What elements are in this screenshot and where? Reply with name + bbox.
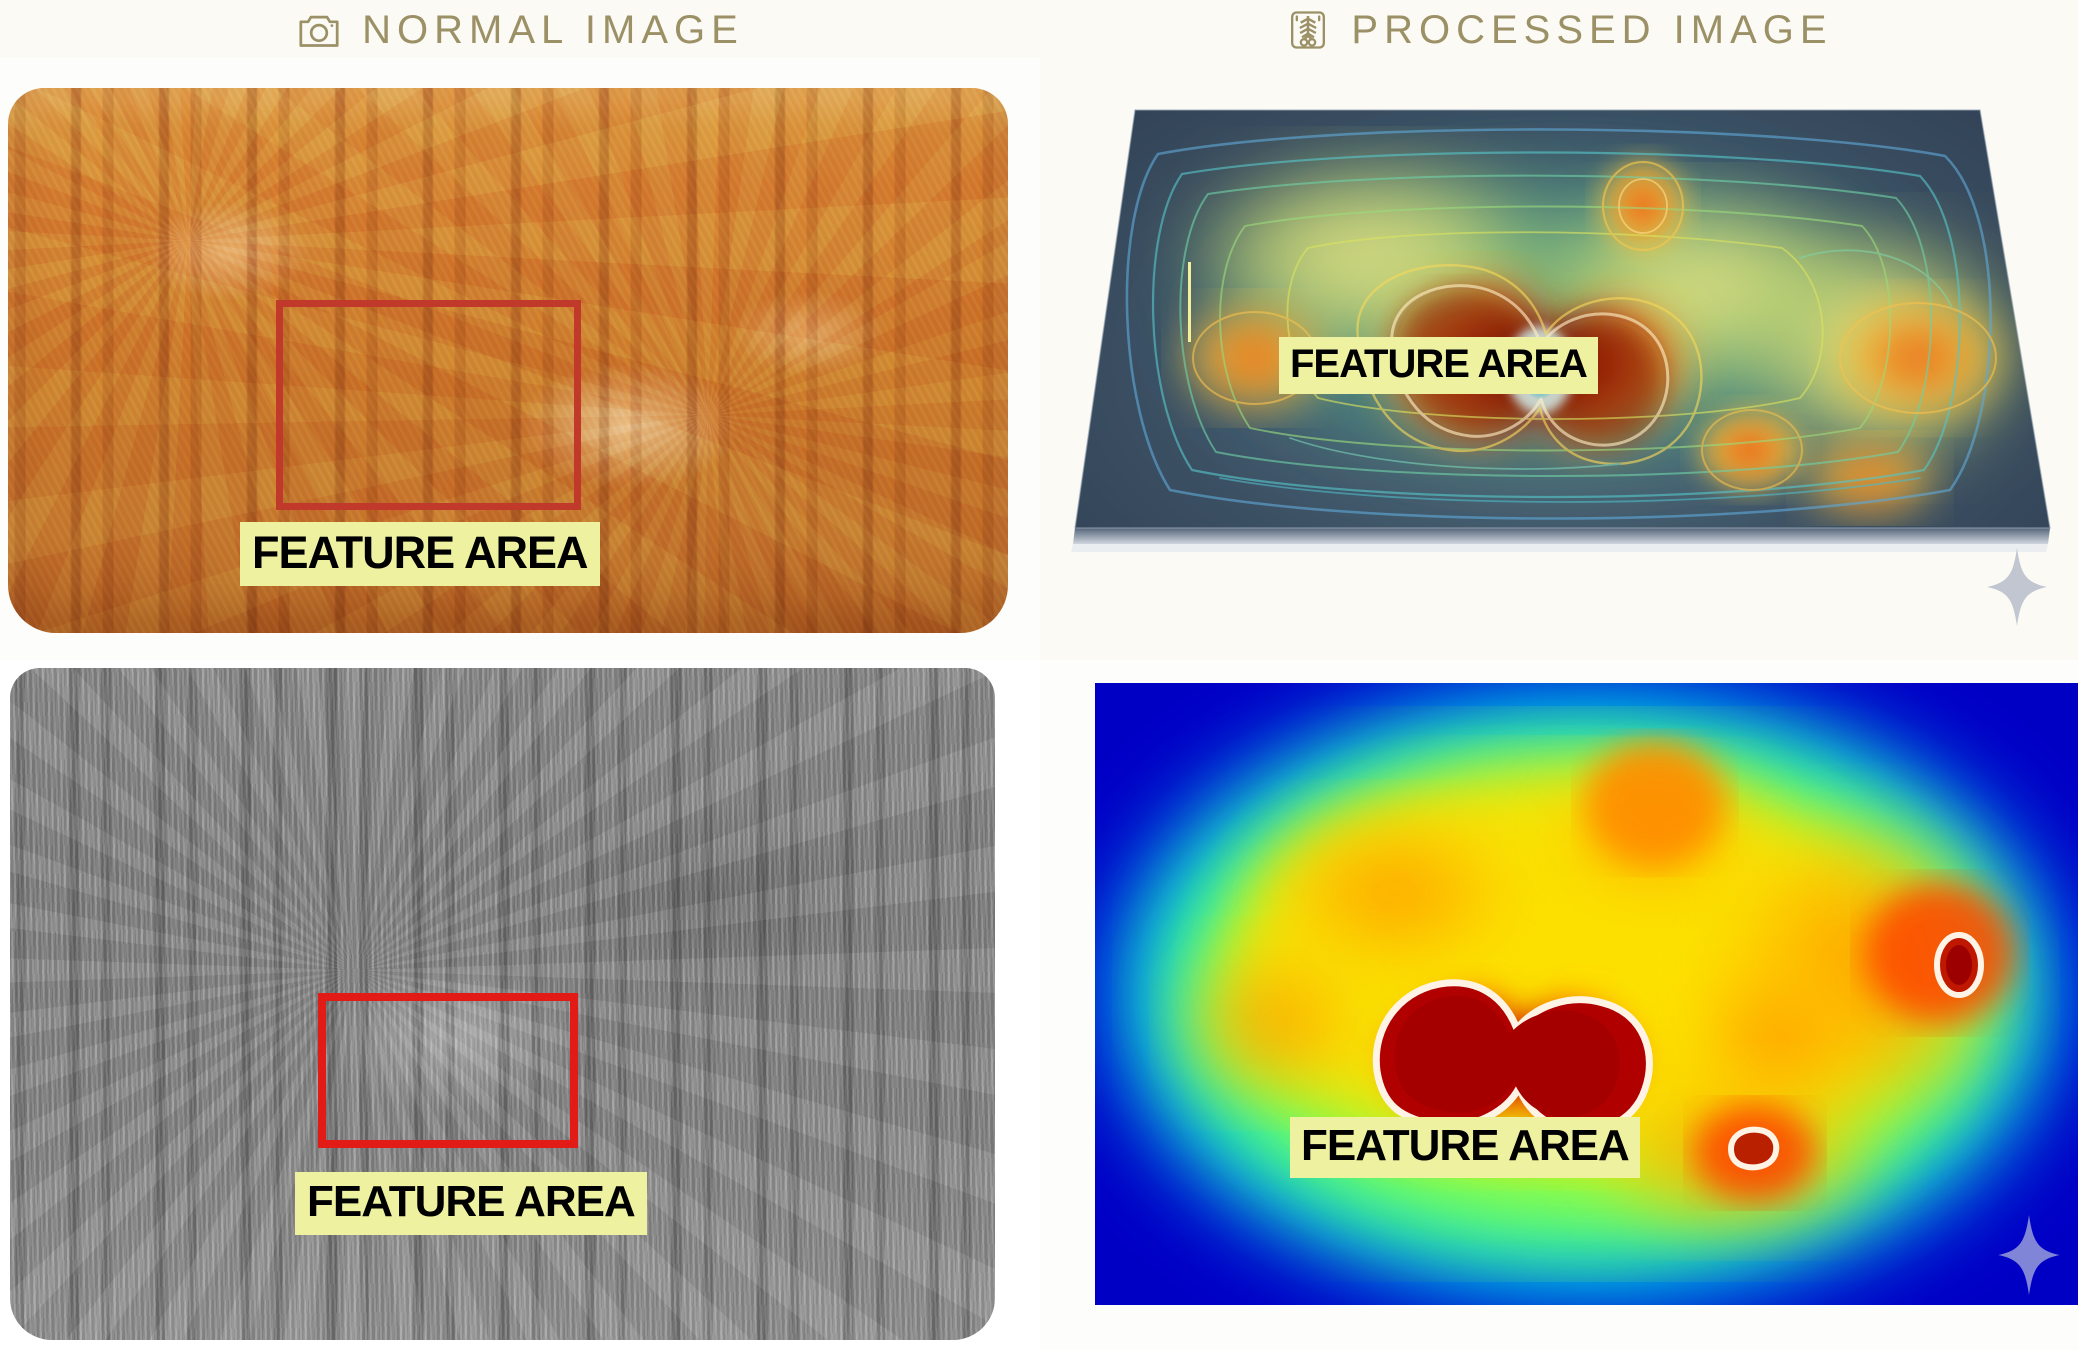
processed-image-title: PROCESSED IMAGE — [1351, 8, 1832, 53]
camera-icon — [296, 10, 342, 50]
feature-area-label-xray: FEATURE AREA — [295, 1172, 647, 1235]
jet-heatmap-canvas — [1095, 683, 2078, 1305]
processed-image-header: PROCESSED IMAGE — [1040, 0, 2078, 60]
xray-scan-icon — [1285, 10, 1331, 50]
feature-area-label-heatmap: FEATURE AREA — [1290, 1117, 1640, 1178]
heatmap-panel — [1040, 660, 2078, 1350]
normal-image-header: NORMAL IMAGE — [0, 0, 1040, 60]
feature-area-label-surface: FEATURE AREA — [1279, 337, 1598, 394]
sparkle-icon — [1997, 1215, 2061, 1295]
jet-heatmap — [1095, 683, 2078, 1305]
normal-image-title: NORMAL IMAGE — [362, 8, 744, 53]
roi-box-xray-image — [318, 993, 578, 1148]
comparison-figure: NORMAL IMAGE PROCESSED IMAGE FEATURE ARE… — [0, 0, 2078, 1350]
sparkle-icon — [1985, 548, 2049, 626]
roi-box-normal-image — [276, 300, 581, 510]
feature-area-leader-line — [1188, 262, 1191, 342]
feature-area-label-normal: FEATURE AREA — [240, 522, 600, 586]
